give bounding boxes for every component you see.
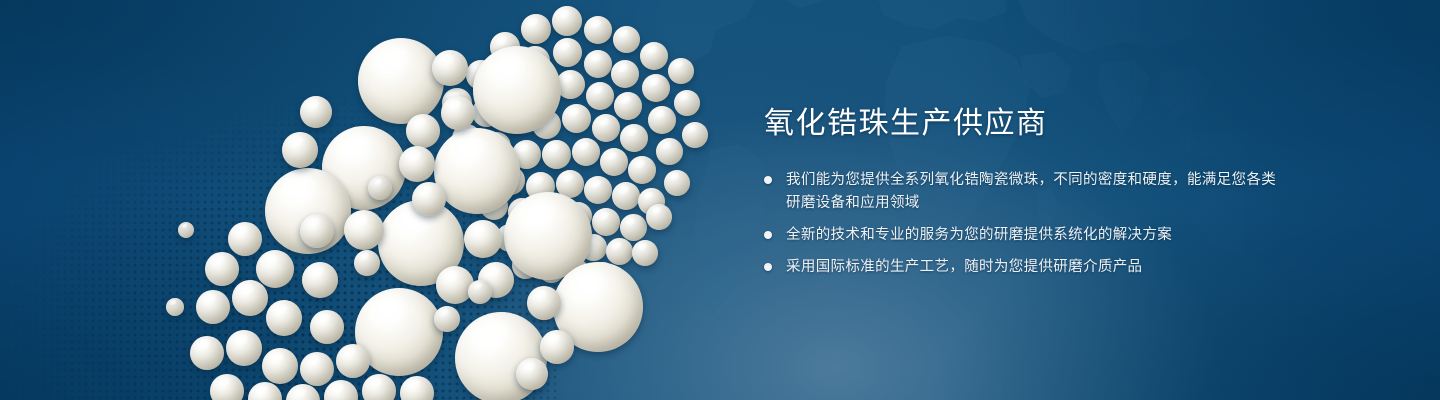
banner-headline: 氧化锆珠生产供应商 xyxy=(764,104,1284,144)
banner-copy: 氧化锆珠生产供应商 我们能为您提供全系列氧化锆陶瓷微珠，不同的密度和硬度，能满足… xyxy=(764,104,1284,288)
bullet-dot-icon xyxy=(764,263,772,271)
bullet-dot-icon xyxy=(764,176,772,184)
list-item: 采用国际标准的生产工艺，随时为您提供研磨介质产品 xyxy=(764,256,1284,279)
hero-banner: 氧化锆珠生产供应商 我们能为您提供全系列氧化锆陶瓷微珠，不同的密度和硬度，能满足… xyxy=(0,0,1440,400)
bullet-text: 全新的技术和专业的服务为您的研磨提供系统化的解决方案 xyxy=(786,224,1172,247)
bullet-text: 采用国际标准的生产工艺，随时为您提供研磨介质产品 xyxy=(786,256,1142,279)
bullet-dot-icon xyxy=(764,231,772,239)
bullet-text: 我们能为您提供全系列氧化锆陶瓷微珠，不同的密度和硬度，能满足您各类研磨设备和应用… xyxy=(786,169,1284,215)
zirconia-beads-photo xyxy=(0,0,780,400)
banner-feature-list: 我们能为您提供全系列氧化锆陶瓷微珠，不同的密度和硬度，能满足您各类研磨设备和应用… xyxy=(764,169,1284,279)
list-item: 我们能为您提供全系列氧化锆陶瓷微珠，不同的密度和硬度，能满足您各类研磨设备和应用… xyxy=(764,169,1284,215)
list-item: 全新的技术和专业的服务为您的研磨提供系统化的解决方案 xyxy=(764,224,1284,247)
